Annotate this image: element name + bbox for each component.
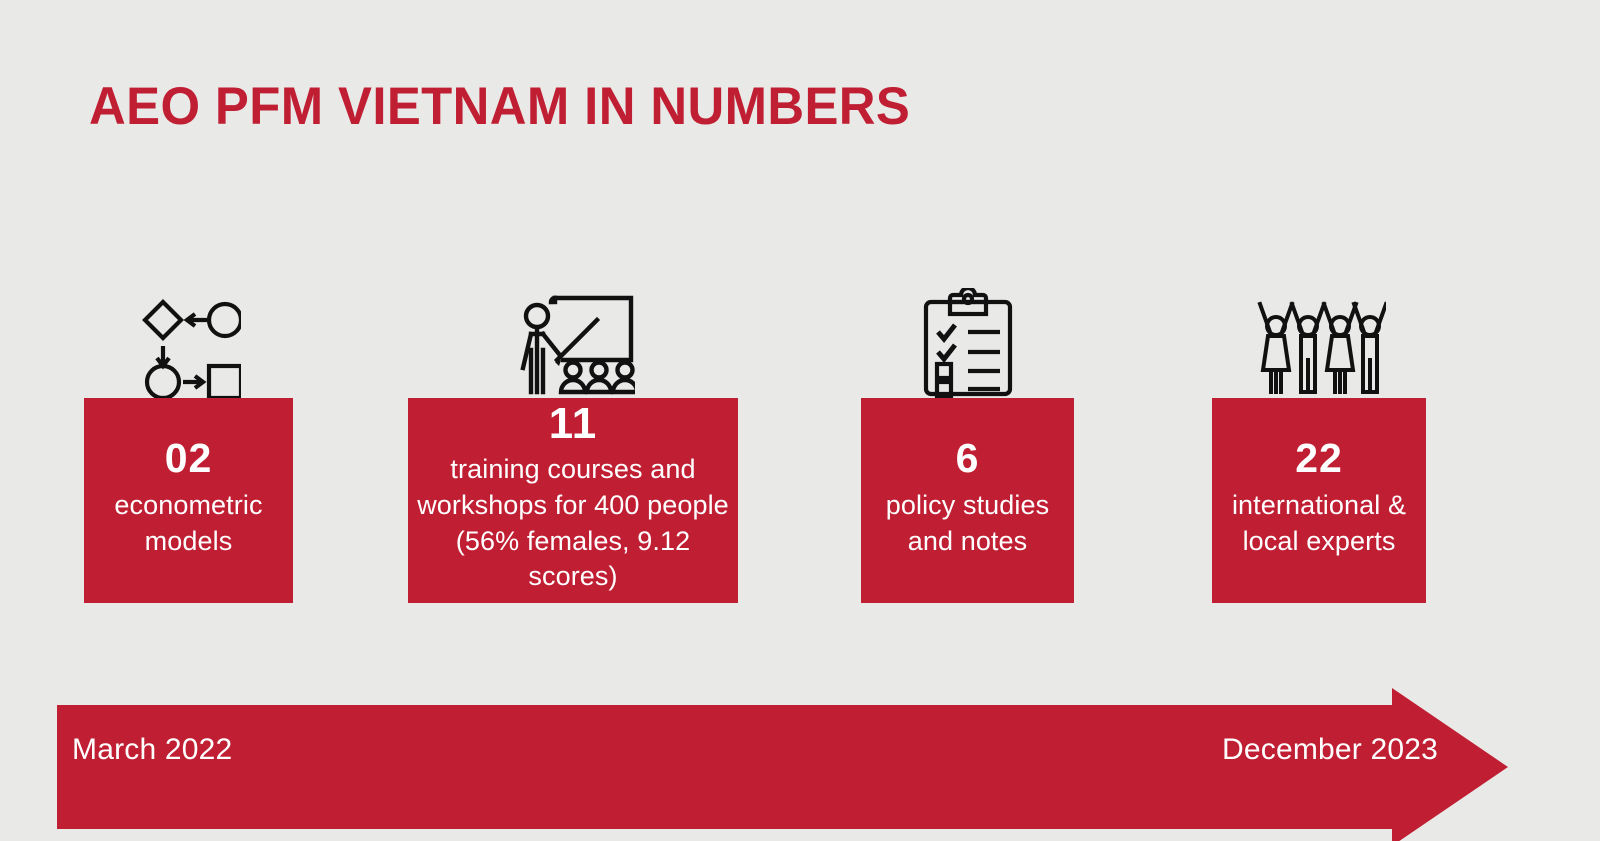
timeline-end-label: December 2023 <box>1222 735 1438 765</box>
stat-card-4: 22 international & local experts <box>1212 398 1426 603</box>
stat-column-1 <box>84 255 293 398</box>
stat-number-4: 22 <box>1295 438 1343 479</box>
clipboard-checklist-icon <box>861 273 1074 398</box>
stat-number-3: 6 <box>956 438 980 479</box>
timeline-start-label: March 2022 <box>72 735 232 765</box>
group-of-people-icon <box>1212 273 1426 398</box>
stat-number-1: 02 <box>165 438 213 479</box>
stat-number-2: 11 <box>549 402 598 446</box>
stat-column-2 <box>408 255 738 398</box>
page-title: AEO PFM VIETNAM IN NUMBERS <box>89 79 910 135</box>
flowchart-icon <box>84 273 293 398</box>
stat-description-4: international & local experts <box>1220 488 1418 560</box>
stat-column-3 <box>861 255 1074 398</box>
stat-description-2: training courses and workshops for 400 p… <box>416 452 730 596</box>
stat-column-4 <box>1212 255 1426 398</box>
stat-card-1: 02 econometric models <box>84 398 293 603</box>
stat-card-3: 6 policy studies and notes <box>861 398 1074 603</box>
stat-description-3: policy studies and notes <box>869 488 1066 560</box>
stat-description-1: econometric models <box>92 488 285 560</box>
training-presentation-icon <box>408 273 738 398</box>
slide-canvas: AEO PFM VIETNAM IN NUMBERS <box>0 0 1600 841</box>
stat-card-2: 11 training courses and workshops for 40… <box>408 398 738 603</box>
